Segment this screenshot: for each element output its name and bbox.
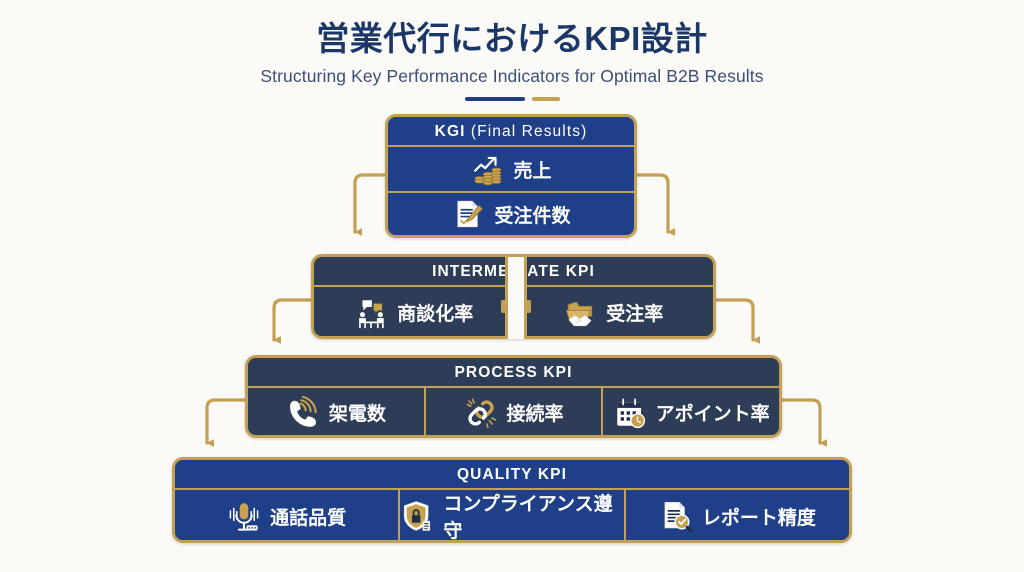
calendar-clock-icon bbox=[613, 396, 647, 430]
connector-intermediate-right bbox=[715, 300, 753, 340]
tier-kgi-header-bold: KGI bbox=[435, 123, 466, 140]
tier-process-row-1: 架電数 接続率 bbox=[248, 388, 779, 437]
kpi-cell-sales[interactable]: 売上 bbox=[388, 147, 634, 191]
meeting-chat-icon bbox=[354, 296, 388, 330]
kpi-cell-compliance[interactable]: コンプライアンス遵守 bbox=[398, 490, 623, 542]
kpi-label-call-count: 架電数 bbox=[329, 399, 386, 426]
kpi-label-connect-rate: 接続率 bbox=[507, 399, 564, 426]
tier-process-header: PROCESS KPI bbox=[248, 358, 779, 388]
tier-kgi-header: KGI (Final Results) bbox=[388, 117, 634, 147]
page-title: 営業代行におけるKPI設計 bbox=[0, 21, 1024, 57]
intermediate-gap-border-left bbox=[505, 257, 508, 339]
kpi-cell-appointment-rate[interactable]: アポイント率 bbox=[601, 388, 779, 437]
kpi-cell-connect-rate[interactable]: 接続率 bbox=[424, 388, 602, 437]
kpi-label-appointment-rate: アポイント率 bbox=[656, 399, 770, 426]
chain-link-icon bbox=[464, 396, 498, 430]
microphone-waveform-icon bbox=[227, 499, 261, 533]
kpi-cell-order-rate[interactable]: 受注率 bbox=[514, 287, 714, 338]
connector-intermediate-left bbox=[274, 300, 312, 340]
tier-quality-header: QUALITY KPI bbox=[175, 460, 849, 490]
tier-quality-row-1: 通話品質 コンプライアンス遵守 bbox=[175, 490, 849, 542]
intermediate-gap-border-right bbox=[524, 257, 527, 339]
tier-kgi[interactable]: KGI (Final Results) 売上 bbox=[385, 114, 637, 238]
handshake-folder-icon bbox=[563, 296, 597, 330]
title-divider bbox=[0, 97, 1024, 101]
connector-process-right bbox=[781, 400, 820, 443]
kpi-label-report-accuracy: レポート精度 bbox=[702, 503, 816, 530]
divider-navy-bar bbox=[465, 97, 525, 101]
tier-process[interactable]: PROCESS KPI 架電数 接続率 bbox=[245, 355, 782, 438]
tier-kgi-header-rest: (Final Results) bbox=[466, 123, 588, 140]
kpi-cell-call-quality[interactable]: 通話品質 bbox=[175, 490, 398, 542]
connector-kgi-left bbox=[355, 175, 386, 232]
kpi-cell-meeting-rate[interactable]: 商談化率 bbox=[314, 287, 514, 338]
document-pencil-icon bbox=[451, 197, 485, 231]
kpi-label-meeting-rate: 商談化率 bbox=[397, 299, 473, 326]
tier-kgi-row-2: 受注件数 bbox=[388, 193, 634, 235]
kpi-label-compliance: コンプライアンス遵守 bbox=[443, 489, 623, 543]
kpi-label-order-rate: 受注率 bbox=[606, 299, 663, 326]
connector-process-left bbox=[207, 400, 246, 443]
divider-gold-bar bbox=[532, 97, 560, 101]
kpi-label-call-quality: 通話品質 bbox=[270, 503, 346, 530]
tier-quality[interactable]: QUALITY KPI 通話品質 bbox=[172, 457, 852, 543]
kpi-cell-order-count[interactable]: 受注件数 bbox=[388, 193, 634, 235]
intermediate-cell-gap bbox=[508, 257, 524, 339]
shield-lock-icon bbox=[400, 499, 434, 533]
report-magnifier-icon bbox=[659, 499, 693, 533]
kpi-cell-report-accuracy[interactable]: レポート精度 bbox=[624, 490, 849, 542]
tier-kgi-row-1: 売上 bbox=[388, 147, 634, 191]
kpi-label-sales: 売上 bbox=[513, 156, 551, 183]
phone-call-icon bbox=[286, 396, 320, 430]
page-header: 営業代行におけるKPI設計 Structuring Key Performanc… bbox=[0, 0, 1024, 101]
page-subtitle: Structuring Key Performance Indicators f… bbox=[0, 66, 1024, 87]
growth-chart-coins-icon bbox=[470, 152, 504, 186]
connector-kgi-right bbox=[637, 175, 668, 232]
kpi-label-order-count: 受注件数 bbox=[494, 201, 570, 228]
kpi-cell-call-count[interactable]: 架電数 bbox=[248, 388, 424, 437]
